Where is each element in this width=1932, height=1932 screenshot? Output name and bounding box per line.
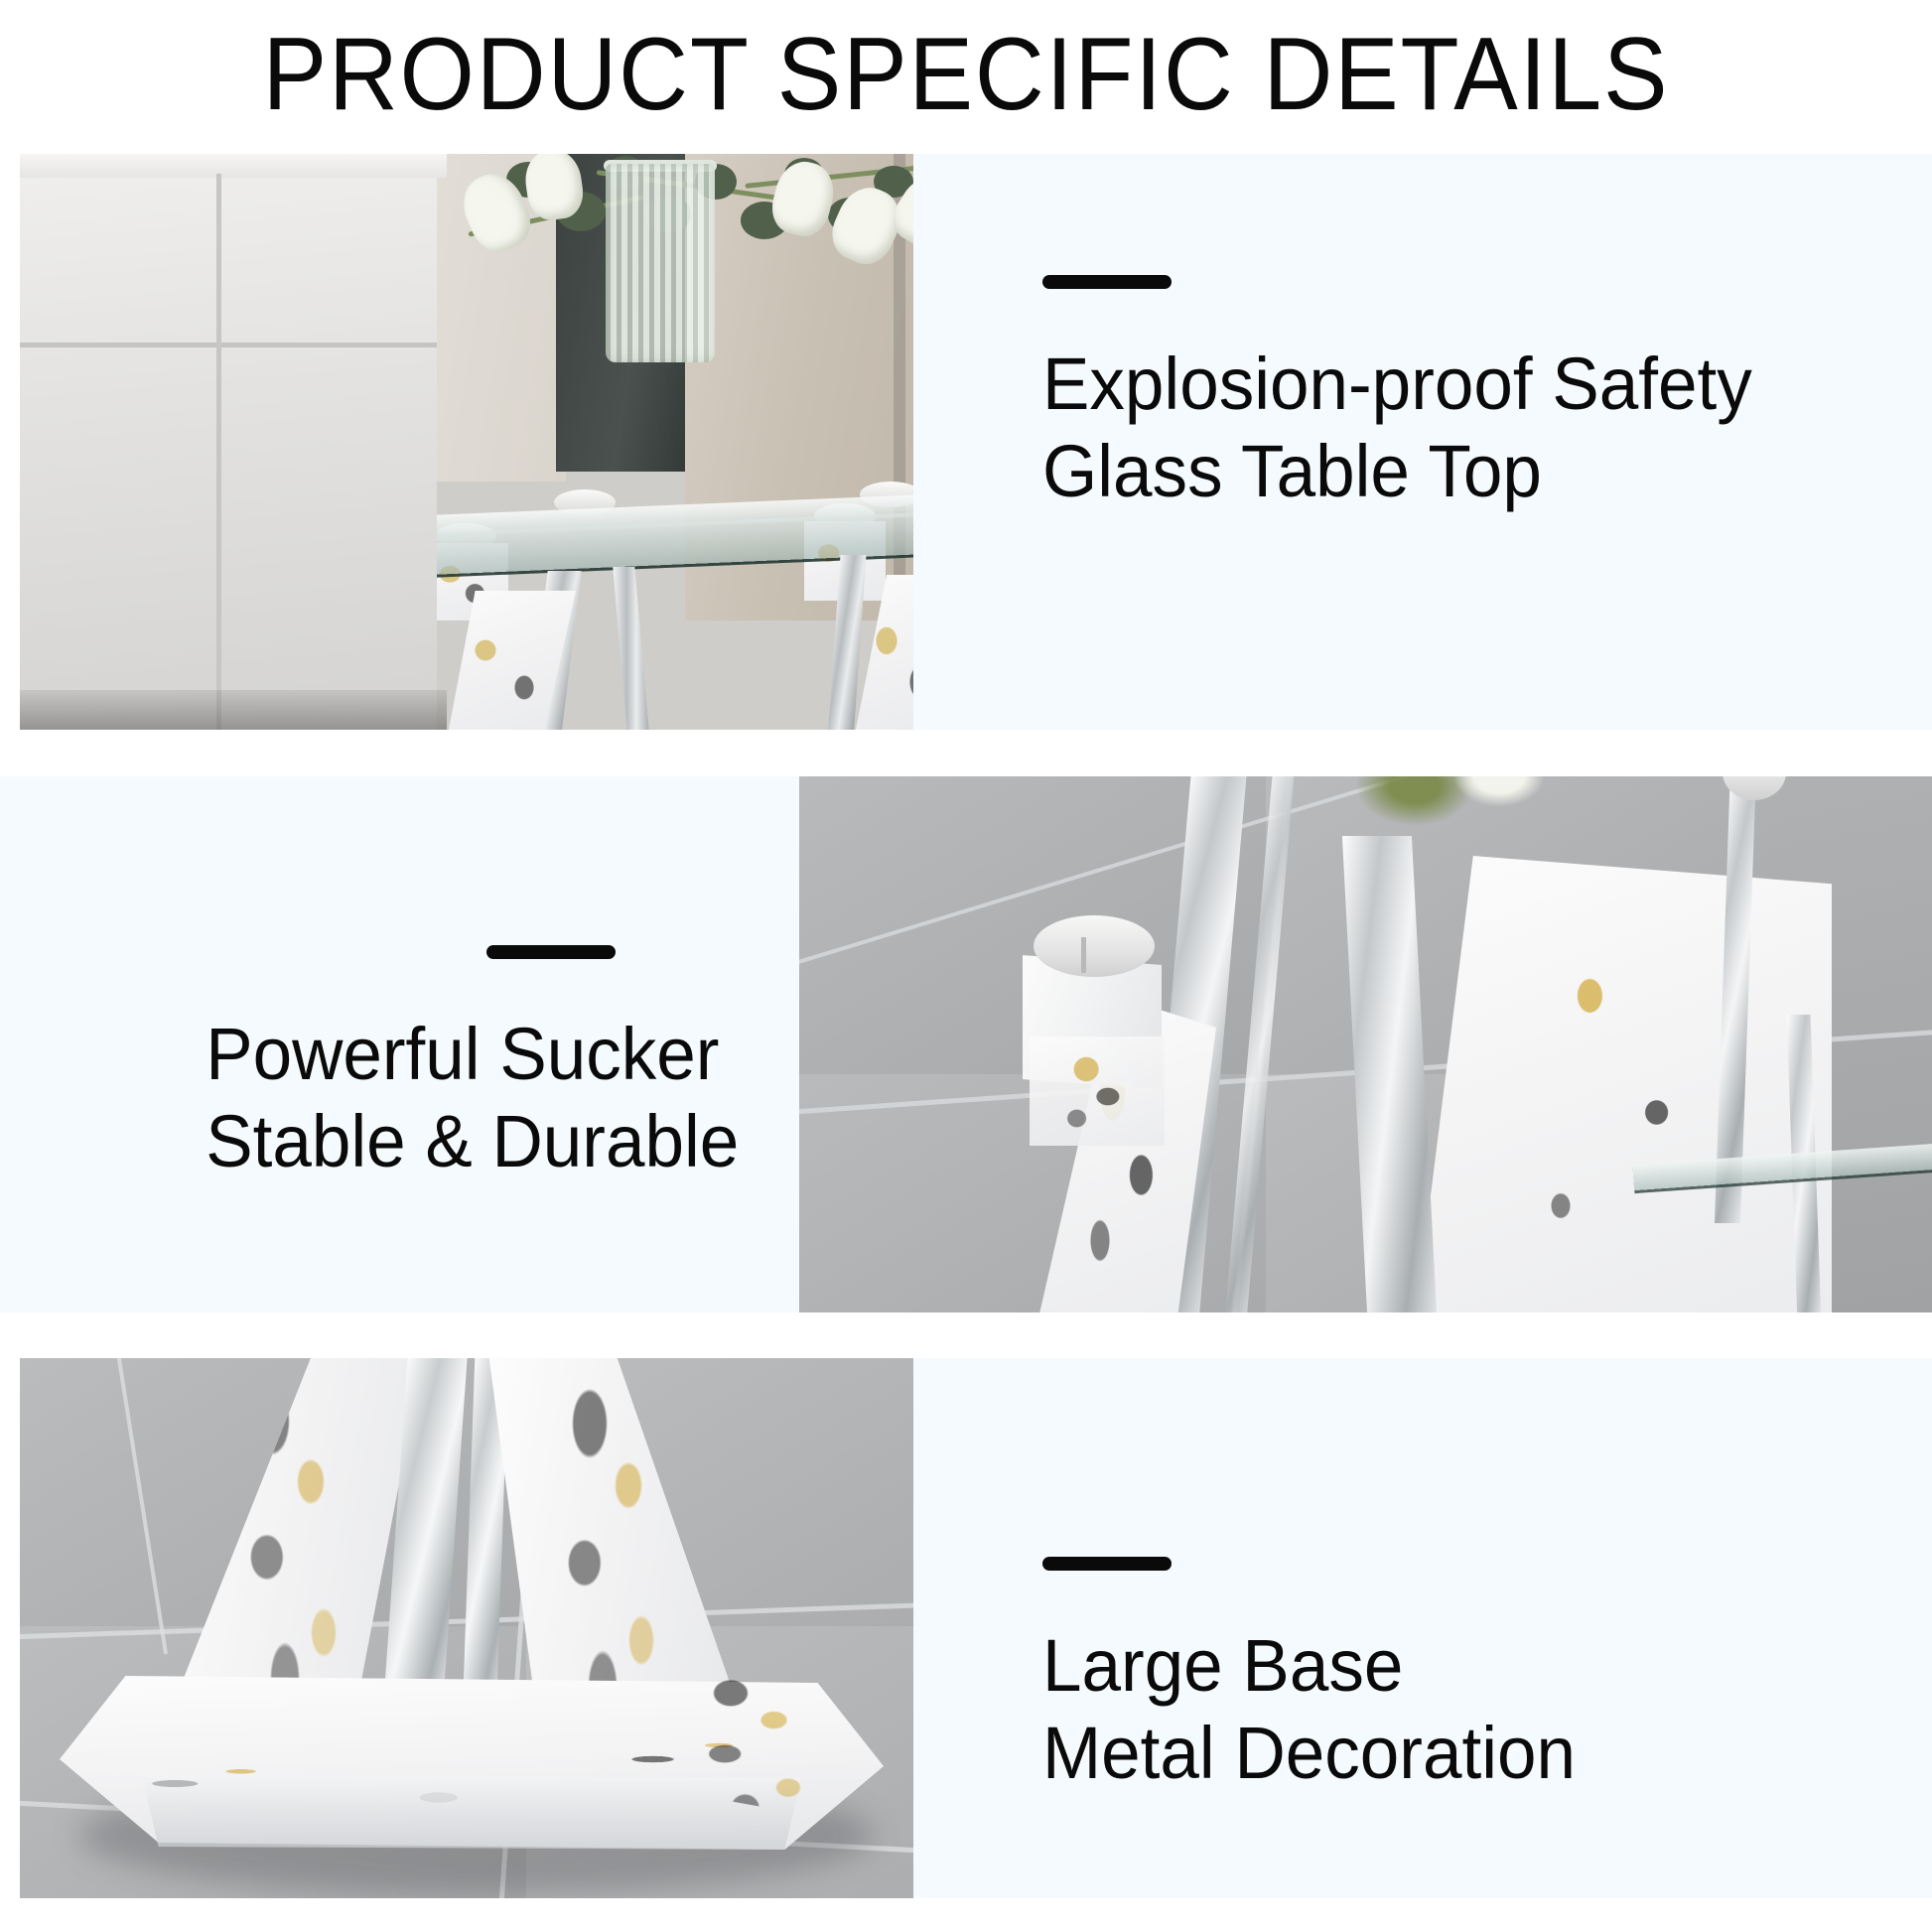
detail-panel-sucker: Powerful Sucker Stable & Durable [0,776,1932,1312]
panel-2-photo [799,776,1932,1312]
accent-dash-icon [1042,275,1172,289]
detail-panel-glass-top: Explosion-proof Safety Glass Table Top [20,154,1932,730]
panel-2-caption-line-2: Stable & Durable [206,1098,616,1185]
panel-1-textblock: Explosion-proof Safety Glass Table Top [1042,275,1782,515]
page-title: PRODUCT SPECIFIC DETAILS [68,20,1864,129]
panel-1-caption-line-2: Glass Table Top [1042,428,1752,515]
panel-1-caption-line-1: Explosion-proof Safety [1042,341,1752,428]
panel-3-caption-line-1: Large Base [1042,1622,1576,1710]
panel-2-textblock: Powerful Sucker Stable & Durable [189,945,616,1185]
panel-2-caption-line-1: Powerful Sucker [206,1011,616,1098]
panel-3-textblock: Large Base Metal Decoration [1042,1557,1597,1797]
panel-1-photo [20,154,913,730]
panel-3-caption-line-2: Metal Decoration [1042,1710,1576,1797]
accent-dash-icon [486,945,616,959]
panel-3-photo [20,1358,913,1898]
detail-panel-large-base: Large Base Metal Decoration [20,1358,1932,1898]
accent-dash-icon [1042,1557,1172,1571]
